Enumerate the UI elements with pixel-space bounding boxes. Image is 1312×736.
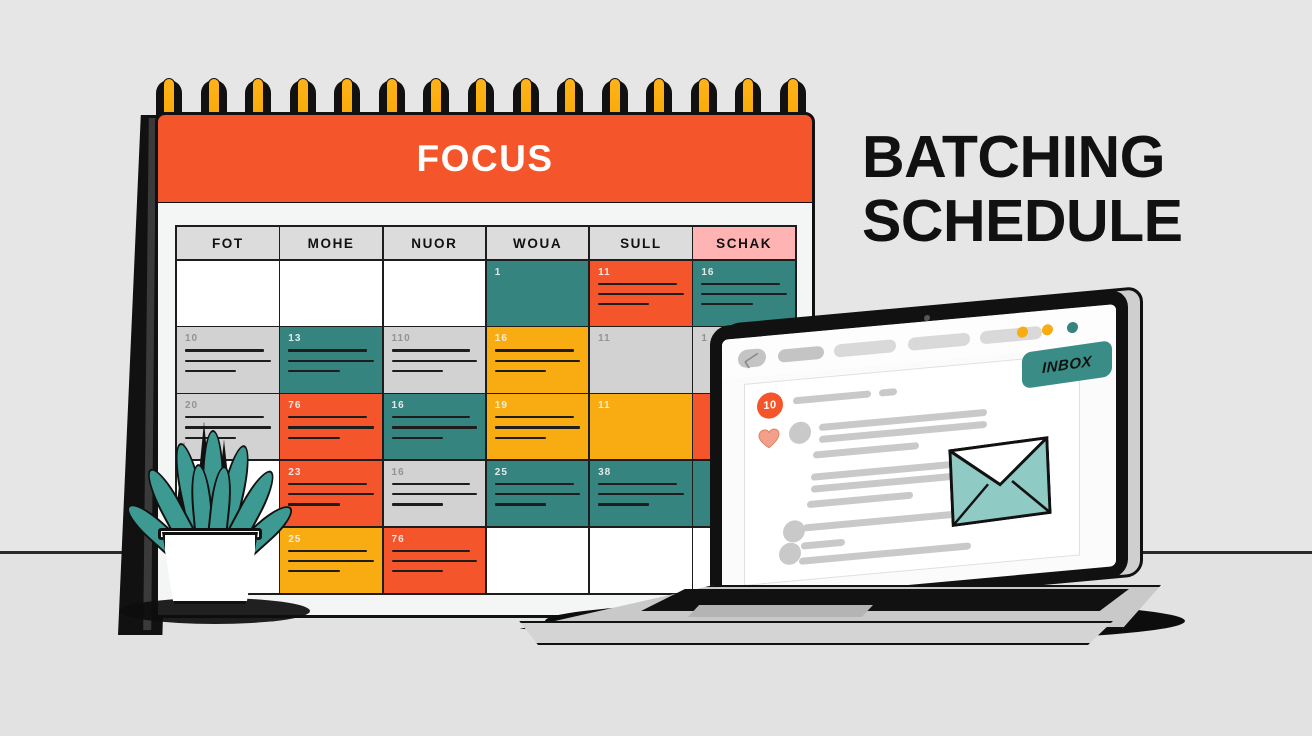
- calendar-day-cell[interactable]: 25: [280, 528, 382, 593]
- laptop-screen[interactable]: 10: [722, 304, 1116, 602]
- trackpad[interactable]: [688, 605, 873, 617]
- calendar-day-cell[interactable]: 110: [384, 327, 486, 392]
- calendar-day-cell[interactable]: 10: [177, 327, 279, 392]
- calendar-event-lines: [288, 550, 374, 581]
- calendar-column-header-3: WOUA: [487, 227, 589, 259]
- calendar-event-line: [288, 426, 374, 428]
- calendar-day-cell[interactable]: 16: [384, 461, 486, 526]
- calendar-event-line: [392, 349, 471, 351]
- calendar-event-lines: [392, 416, 478, 447]
- calendar-column-header-0: FOT: [177, 227, 279, 259]
- calendar-day-cell[interactable]: 13: [280, 327, 382, 392]
- potted-plant: [140, 420, 290, 605]
- calendar-day-number: 16: [392, 400, 405, 411]
- plant-pot: [162, 532, 258, 604]
- calendar-event-lines: [288, 349, 374, 380]
- calendar-event-line: [701, 293, 787, 295]
- calendar-event-line: [598, 283, 677, 285]
- mail-row-line: [807, 492, 913, 509]
- mail-row-line: [801, 539, 845, 550]
- laptop-base: [513, 585, 1173, 647]
- calendar-event-line: [288, 416, 367, 418]
- calendar-event-line: [185, 370, 236, 372]
- calendar-event-lines: [185, 349, 271, 380]
- laptop-base-front: [513, 621, 1138, 645]
- calendar-event-line: [392, 503, 443, 505]
- calendar-day-number: 110: [392, 333, 411, 344]
- calendar-event-line: [288, 483, 367, 485]
- calendar-event-line: [392, 426, 478, 428]
- calendar-event-line: [288, 370, 339, 372]
- laptop: 10: [505, 300, 1165, 640]
- calendar-day-cell[interactable]: [177, 261, 279, 326]
- calendar-event-line: [185, 416, 264, 418]
- calendar-day-number: 76: [288, 400, 301, 411]
- calendar-event-line: [392, 416, 471, 418]
- calendar-day-number: 16: [701, 267, 714, 278]
- calendar-event-line: [288, 349, 367, 351]
- calendar-event-lines: [288, 416, 374, 447]
- calendar-event-line: [392, 570, 443, 572]
- envelope-icon: [948, 436, 1051, 527]
- calendar-day-cell[interactable]: 76: [280, 394, 382, 459]
- calendar-day-number: 16: [392, 467, 405, 478]
- calendar-column-header-2: NUOR: [384, 227, 486, 259]
- calendar-event-line: [598, 293, 684, 295]
- calendar-event-line: [392, 437, 443, 439]
- scene: BATCHING SCHEDULE FOCUS FOTMOHENUORWOUAS…: [0, 0, 1312, 736]
- calendar-event-line: [185, 349, 264, 351]
- calendar-day-number: 25: [288, 534, 301, 545]
- calendar-column-header-5: SCHAK: [693, 227, 795, 259]
- mail-header-line-2: [879, 388, 897, 397]
- calendar-day-number: 23: [288, 467, 301, 478]
- calendar-event-lines: [392, 349, 478, 380]
- calendar-day-cell[interactable]: [280, 261, 382, 326]
- calendar-event-line: [288, 437, 339, 439]
- calendar-day-cell[interactable]: 23: [280, 461, 382, 526]
- calendar-day-cell[interactable]: 16: [384, 394, 486, 459]
- calendar-focus-title: FOCUS: [155, 112, 815, 205]
- calendar-day-number: 1: [495, 267, 502, 278]
- mail-row-line: [813, 442, 919, 459]
- calendar-day-number: 76: [392, 534, 405, 545]
- calendar-event-line: [288, 570, 339, 572]
- calendar-day-number: 20: [185, 400, 198, 411]
- calendar-column-header-4: SULL: [590, 227, 692, 259]
- calendar-day-cell[interactable]: [384, 261, 486, 326]
- calendar-event-line: [392, 560, 478, 562]
- calendar-event-lines: [392, 483, 478, 514]
- calendar-event-line: [288, 550, 367, 552]
- avatar: [789, 421, 811, 445]
- mail-header-line-1: [793, 390, 871, 404]
- calendar-event-lines: [392, 550, 478, 581]
- calendar-event-line: [185, 360, 271, 362]
- calendar-event-line: [288, 560, 374, 562]
- calendar-day-number: 11: [598, 267, 611, 278]
- avatar: [783, 519, 805, 543]
- calendar-event-line: [392, 493, 478, 495]
- calendar-event-line: [288, 503, 339, 505]
- calendar-day-number: 10: [185, 333, 198, 344]
- calendar-event-line: [288, 493, 374, 495]
- page-title: BATCHING SCHEDULE: [862, 126, 1292, 253]
- calendar-event-lines: [288, 483, 374, 514]
- calendar-event-line: [701, 283, 780, 285]
- unread-count-badge: 10: [757, 391, 783, 419]
- calendar-column-header-1: MOHE: [280, 227, 382, 259]
- calendar-day-cell[interactable]: 76: [384, 528, 486, 593]
- calendar-event-line: [392, 483, 471, 485]
- calendar-event-line: [392, 360, 478, 362]
- calendar-event-line: [392, 370, 443, 372]
- avatar: [779, 542, 801, 566]
- calendar-event-line: [392, 550, 471, 552]
- calendar-day-number: 13: [288, 333, 301, 344]
- calendar-event-line: [288, 360, 374, 362]
- heart-icon: [758, 428, 780, 450]
